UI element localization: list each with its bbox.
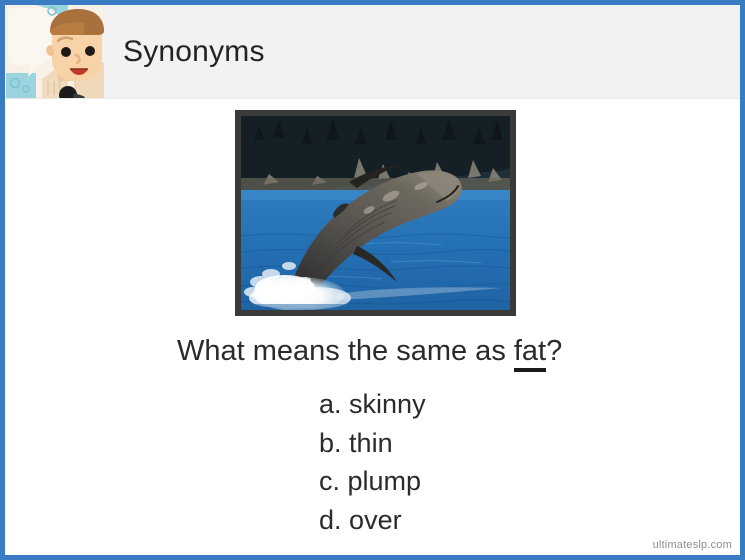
question-text: What means the same as fat?: [177, 335, 562, 368]
page-title: Synonyms: [123, 35, 265, 69]
slide-canvas: Synonyms: [0, 0, 745, 560]
answer-choice-c-letter: c.: [319, 466, 340, 496]
answer-choice-d-label: over: [349, 505, 402, 535]
whale-breaching-illustration: [241, 116, 510, 310]
question-target-word: fat: [514, 335, 546, 372]
question-prefix: What means the same as: [177, 335, 514, 367]
answer-choice-b[interactable]: b. thin: [319, 424, 426, 463]
answer-choice-c-label: plump: [348, 466, 422, 496]
answer-choice-c[interactable]: c. plump: [319, 462, 426, 501]
question-suffix: ?: [546, 335, 562, 367]
answer-choice-b-label: thin: [349, 428, 393, 458]
answer-choice-d-letter: d.: [319, 505, 342, 535]
whale-image: [241, 116, 510, 310]
answer-choices: a. skinny b. thin c. plump d. over: [319, 385, 426, 539]
answer-choice-a[interactable]: a. skinny: [319, 385, 426, 424]
answer-choice-d[interactable]: d. over: [319, 501, 426, 540]
answer-choice-a-letter: a.: [319, 389, 342, 419]
answer-choice-a-label: skinny: [349, 389, 426, 419]
answer-choice-b-letter: b.: [319, 428, 342, 458]
avatar-illustration: [6, 5, 104, 98]
watermark: ultimateslp.com: [653, 539, 732, 551]
whale-image-frame: [235, 110, 516, 316]
avatar: [6, 5, 104, 98]
slide-header: Synonyms: [5, 5, 740, 99]
